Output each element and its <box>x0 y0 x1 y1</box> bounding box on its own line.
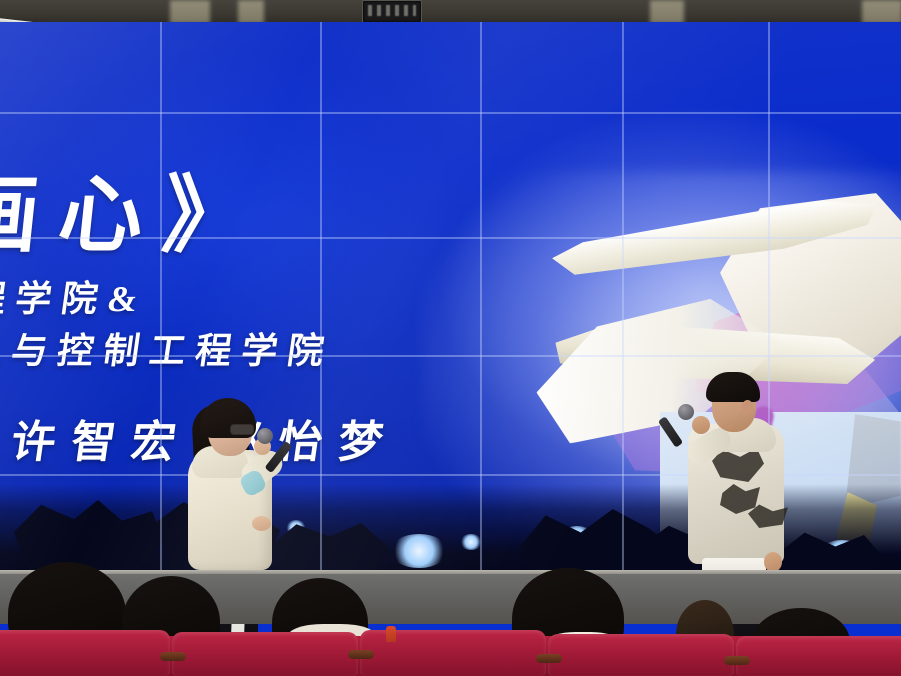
stage-performance-photo: 画心》 程学院& 息与控制工程学院 许智宏 赵怡梦 <box>0 0 901 676</box>
audience-seat[interactable] <box>172 632 358 676</box>
ceiling-beam <box>650 0 684 24</box>
audience-seat[interactable] <box>736 636 901 676</box>
led-light-blob <box>460 534 482 550</box>
song-title-text: 画心》 <box>0 148 274 269</box>
water-bottle[interactable] <box>386 626 396 642</box>
performer-hair <box>706 372 760 402</box>
audience-seat[interactable] <box>548 634 734 676</box>
ceiling-beam <box>238 0 264 24</box>
organizer-line-1: 程学院& <box>0 270 152 322</box>
organizer-line-2: 息与控制工程学院 <box>0 322 338 374</box>
performer-hand <box>252 516 271 531</box>
led-panel-seam <box>0 237 901 239</box>
microphone-head-icon <box>678 404 694 420</box>
led-light-blob <box>390 534 448 568</box>
ceiling-beam <box>170 0 210 24</box>
microphone-head-icon <box>257 428 273 444</box>
seat-armrest <box>724 656 750 665</box>
audience-seat[interactable] <box>0 630 170 676</box>
seat-armrest <box>536 654 562 663</box>
performer-hand <box>764 552 782 572</box>
seat-armrest <box>160 652 186 661</box>
led-panel-seam <box>0 112 901 114</box>
led-panel-seam <box>0 355 901 357</box>
ceiling-sign-text <box>368 5 416 16</box>
led-panel-seam <box>622 22 624 578</box>
led-panel-seam <box>480 22 482 578</box>
ceiling-beam <box>862 0 901 24</box>
ceiling-sign <box>362 0 422 23</box>
led-panel-seam <box>320 22 322 578</box>
glasses-icon <box>230 424 254 435</box>
performer-hand <box>692 416 710 434</box>
led-panel-seam <box>160 22 162 578</box>
performer-ear <box>742 400 753 414</box>
seat-armrest <box>348 650 374 659</box>
